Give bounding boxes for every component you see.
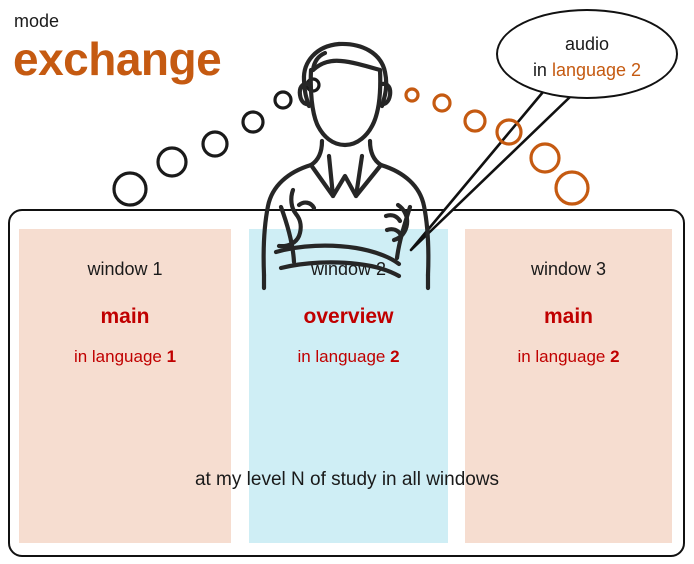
thought-bubbles-right bbox=[406, 89, 588, 204]
thought-bubbles-left bbox=[114, 79, 319, 205]
diagram-canvas: mode exchange bbox=[0, 0, 694, 564]
speech-bubble-line2-prefix: in bbox=[533, 60, 552, 80]
speech-bubble-line1: audio bbox=[565, 34, 609, 54]
mode-title: exchange bbox=[13, 36, 221, 82]
speech-bubble-text: audio in language 2 bbox=[498, 31, 676, 83]
speech-bubble-line2: in language 2 bbox=[498, 57, 676, 83]
speech-bubble-line2-highlight: language 2 bbox=[552, 60, 641, 80]
footnote-text: at my level N of study in all windows bbox=[0, 470, 694, 489]
mode-label: mode bbox=[14, 12, 59, 30]
windows-container-frame bbox=[8, 209, 685, 557]
speech-bubble: audio in language 2 bbox=[496, 9, 678, 99]
